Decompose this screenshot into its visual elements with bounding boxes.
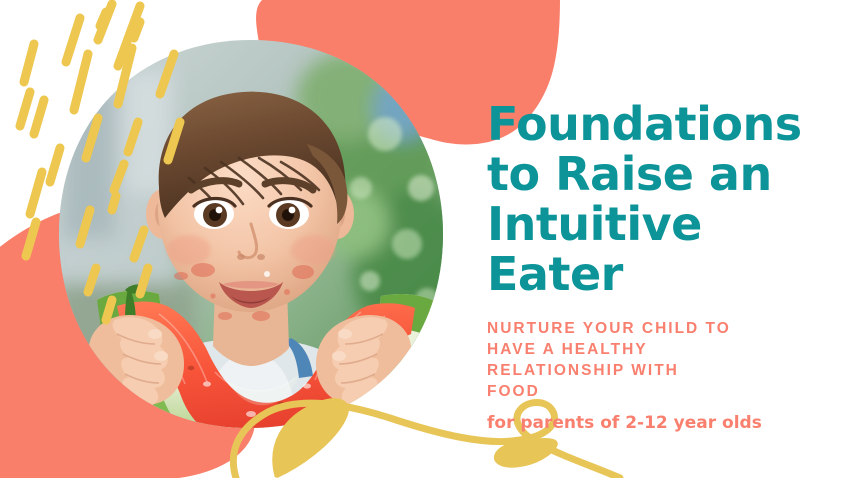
subtitle-line-1: NURTURE YOUR CHILD TO xyxy=(487,318,817,339)
page-title: Foundations to Raise an Intuitive Eater xyxy=(487,99,837,299)
subtitle-line-3: RELATIONSHIP WITH xyxy=(487,360,817,381)
title-line-1: Foundations xyxy=(487,99,837,149)
text-content: Foundations to Raise an Intuitive Eater … xyxy=(0,0,848,478)
title-line-2: to Raise an xyxy=(487,149,837,199)
title-line-4: Eater xyxy=(487,249,837,299)
subtitle: NURTURE YOUR CHILD TO HAVE A HEALTHY REL… xyxy=(487,318,817,402)
audience-tagline: for parents of 2-12 year olds xyxy=(487,413,762,433)
subtitle-line-2: HAVE A HEALTHY xyxy=(487,339,817,360)
poster-canvas: Foundations to Raise an Intuitive Eater … xyxy=(0,0,848,478)
title-line-3: Intuitive xyxy=(487,199,837,249)
subtitle-line-4: FOOD xyxy=(487,381,817,402)
